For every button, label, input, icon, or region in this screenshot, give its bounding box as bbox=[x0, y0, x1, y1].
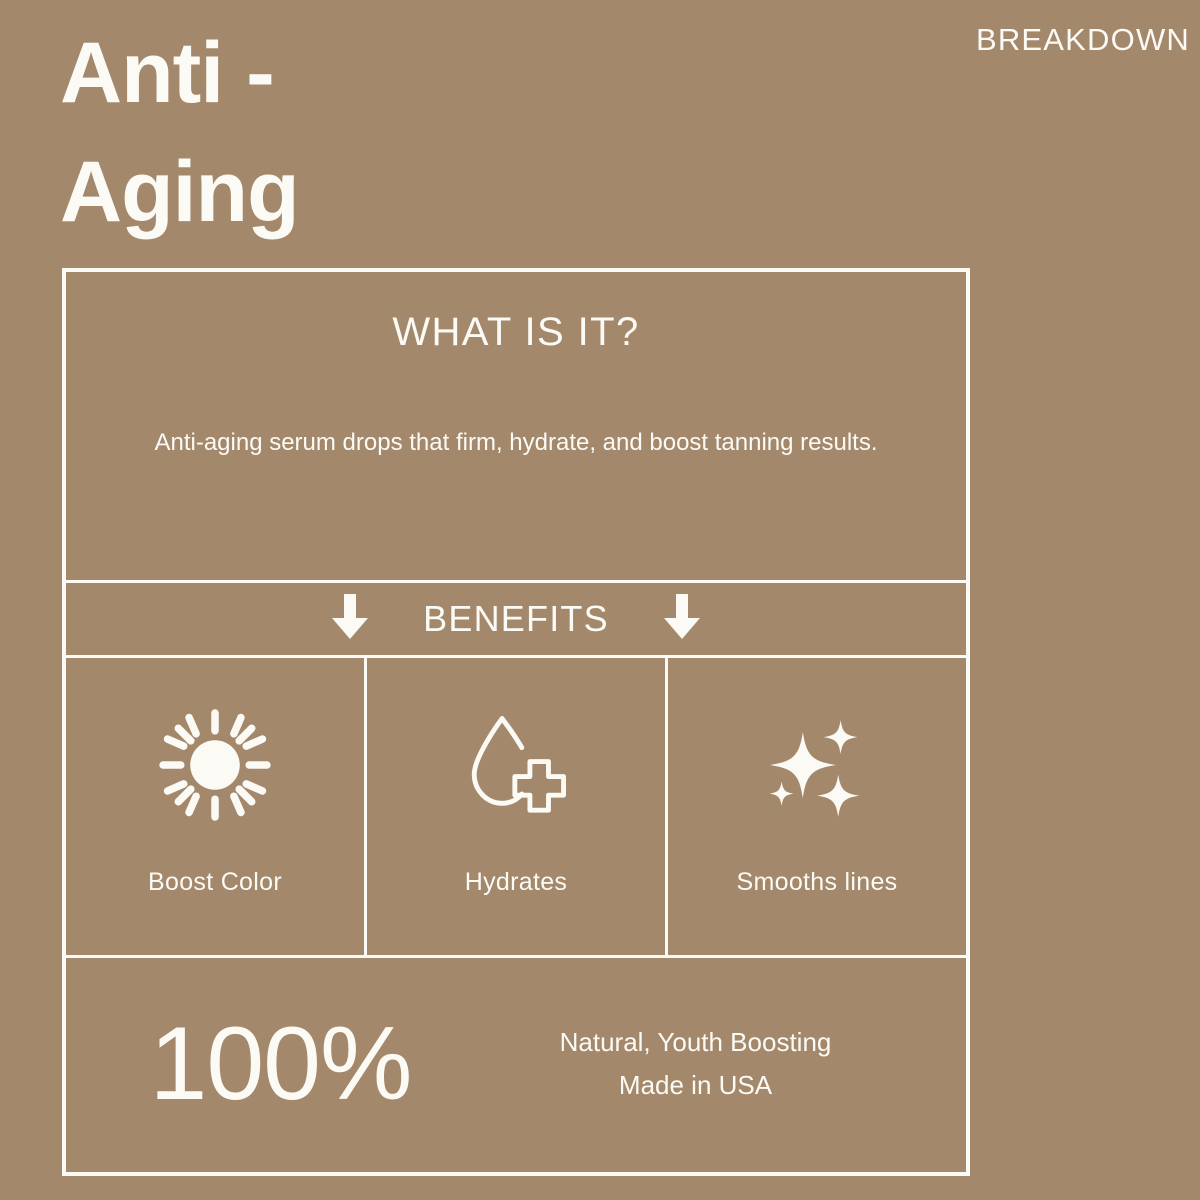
page-title: Anti - Aging bbox=[60, 14, 680, 251]
benefit-label: Hydrates bbox=[465, 868, 567, 897]
footer-stat-section: 100% Natural, Youth Boosting Made in USA bbox=[66, 958, 966, 1169]
stat-description: Natural, Youth Boosting Made in USA bbox=[489, 1021, 966, 1105]
benefit-cell-boost-color: Boost Color bbox=[66, 658, 364, 955]
content-frame: WHAT IS IT? Anti-aging serum drops that … bbox=[62, 268, 970, 1176]
droplet-plus-icon bbox=[458, 704, 574, 826]
stat-percentage: 100% bbox=[66, 1012, 489, 1116]
benefits-header-bar: BENEFITS bbox=[66, 583, 966, 658]
sparkles-icon bbox=[758, 704, 876, 826]
benefit-label: Smooths lines bbox=[737, 868, 898, 897]
what-is-it-heading: WHAT IS IT? bbox=[66, 310, 966, 355]
arrow-down-icon bbox=[663, 594, 701, 645]
infographic-canvas: Anti - Aging BREAKDOWN WHAT IS IT? Anti-… bbox=[0, 0, 1200, 1200]
benefit-label: Boost Color bbox=[148, 868, 282, 897]
sun-icon bbox=[156, 704, 274, 826]
benefit-cell-hydrates: Hydrates bbox=[364, 658, 665, 955]
benefits-grid: Boost Color Hydrates bbox=[66, 658, 966, 958]
arrow-down-icon bbox=[331, 594, 369, 645]
breakdown-tag: BREAKDOWN bbox=[976, 22, 1190, 58]
benefit-cell-smooths-lines: Smooths lines bbox=[665, 658, 966, 955]
what-is-it-body: Anti-aging serum drops that firm, hydrat… bbox=[118, 424, 914, 461]
what-is-it-section: WHAT IS IT? Anti-aging serum drops that … bbox=[66, 272, 966, 583]
benefits-label: BENEFITS bbox=[423, 598, 609, 640]
